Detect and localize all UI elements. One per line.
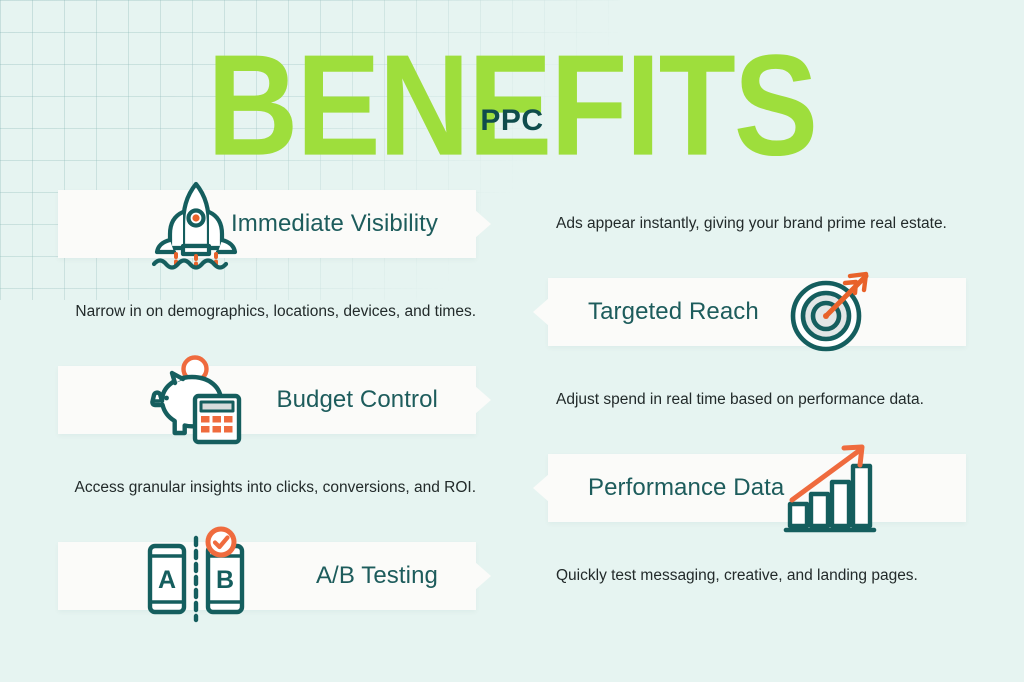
benefit-label-bar[interactable]: Immediate Visibility: [58, 190, 476, 258]
benefit-label-side: Performance Data: [512, 440, 1024, 536]
benefit-label-side: Targeted Reach: [512, 264, 1024, 360]
benefit-row-budget-control: Budget Control: [0, 352, 1024, 448]
benefit-row-ab-testing: A/B Testing A B: [0, 528, 1024, 624]
benefit-description-side: Quickly test messaging, creative, and la…: [512, 528, 1024, 624]
benefit-label-bar[interactable]: Targeted Reach: [548, 278, 966, 346]
benefit-description-text: Adjust spend in real time based on perfo…: [534, 389, 1002, 410]
piggy-bank-calculator-icon: [150, 354, 242, 446]
bar-tab-right: [475, 562, 491, 590]
benefit-label-side: Immediate Visibility: [0, 176, 512, 272]
ab-test-phones-icon: A B: [150, 530, 242, 622]
benefit-description-side: Adjust spend in real time based on perfo…: [512, 352, 1024, 448]
bar-tab-right: [475, 210, 491, 238]
benefit-row-targeted-reach: Targeted Reach Narrow in on demograp: [0, 264, 1024, 360]
benefit-label-bar[interactable]: A/B Testing: [58, 542, 476, 610]
page-title: BENEFITS PPC: [0, 34, 1024, 158]
benefit-description-side: Narrow in on demographics, locations, de…: [0, 264, 512, 360]
benefit-row-performance-data: Performance Data Access granular insight…: [0, 440, 1024, 536]
benefit-row-immediate-visibility: Immediate Visibility: [0, 176, 1024, 272]
bar-tab-left: [533, 474, 549, 502]
svg-text:A: A: [158, 566, 176, 594]
benefit-label-text: A/B Testing: [316, 562, 476, 590]
benefit-label-text: Targeted Reach: [548, 298, 759, 326]
target-arrow-icon: [782, 266, 874, 358]
benefit-label-text: Budget Control: [276, 386, 476, 414]
benefit-description-text: Narrow in on demographics, locations, de…: [22, 301, 490, 322]
benefit-label-text: Immediate Visibility: [231, 210, 476, 238]
title-ppc-overlay: PPC: [0, 106, 1024, 136]
benefit-description-side: Ads appear instantly, giving your brand …: [512, 176, 1024, 272]
benefit-label-bar[interactable]: Performance Data: [548, 454, 966, 522]
benefit-description-text: Quickly test messaging, creative, and la…: [534, 565, 1002, 586]
benefit-label-side: Budget Control: [0, 352, 512, 448]
bar-tab-right: [475, 386, 491, 414]
svg-text:B: B: [216, 566, 234, 594]
benefit-label-side: A/B Testing A B: [0, 528, 512, 624]
infographic-canvas: BENEFITS PPC Immediate Visibility: [0, 0, 1024, 682]
benefit-label-text: Performance Data: [548, 474, 784, 502]
benefit-description-text: Access granular insights into clicks, co…: [22, 477, 490, 498]
benefit-description-side: Access granular insights into clicks, co…: [0, 440, 512, 536]
bar-chart-growth-icon: [782, 442, 874, 534]
benefit-label-bar[interactable]: Budget Control: [58, 366, 476, 434]
rocket-icon: [150, 178, 242, 270]
bar-tab-left: [533, 298, 549, 326]
benefit-description-text: Ads appear instantly, giving your brand …: [534, 213, 1002, 234]
